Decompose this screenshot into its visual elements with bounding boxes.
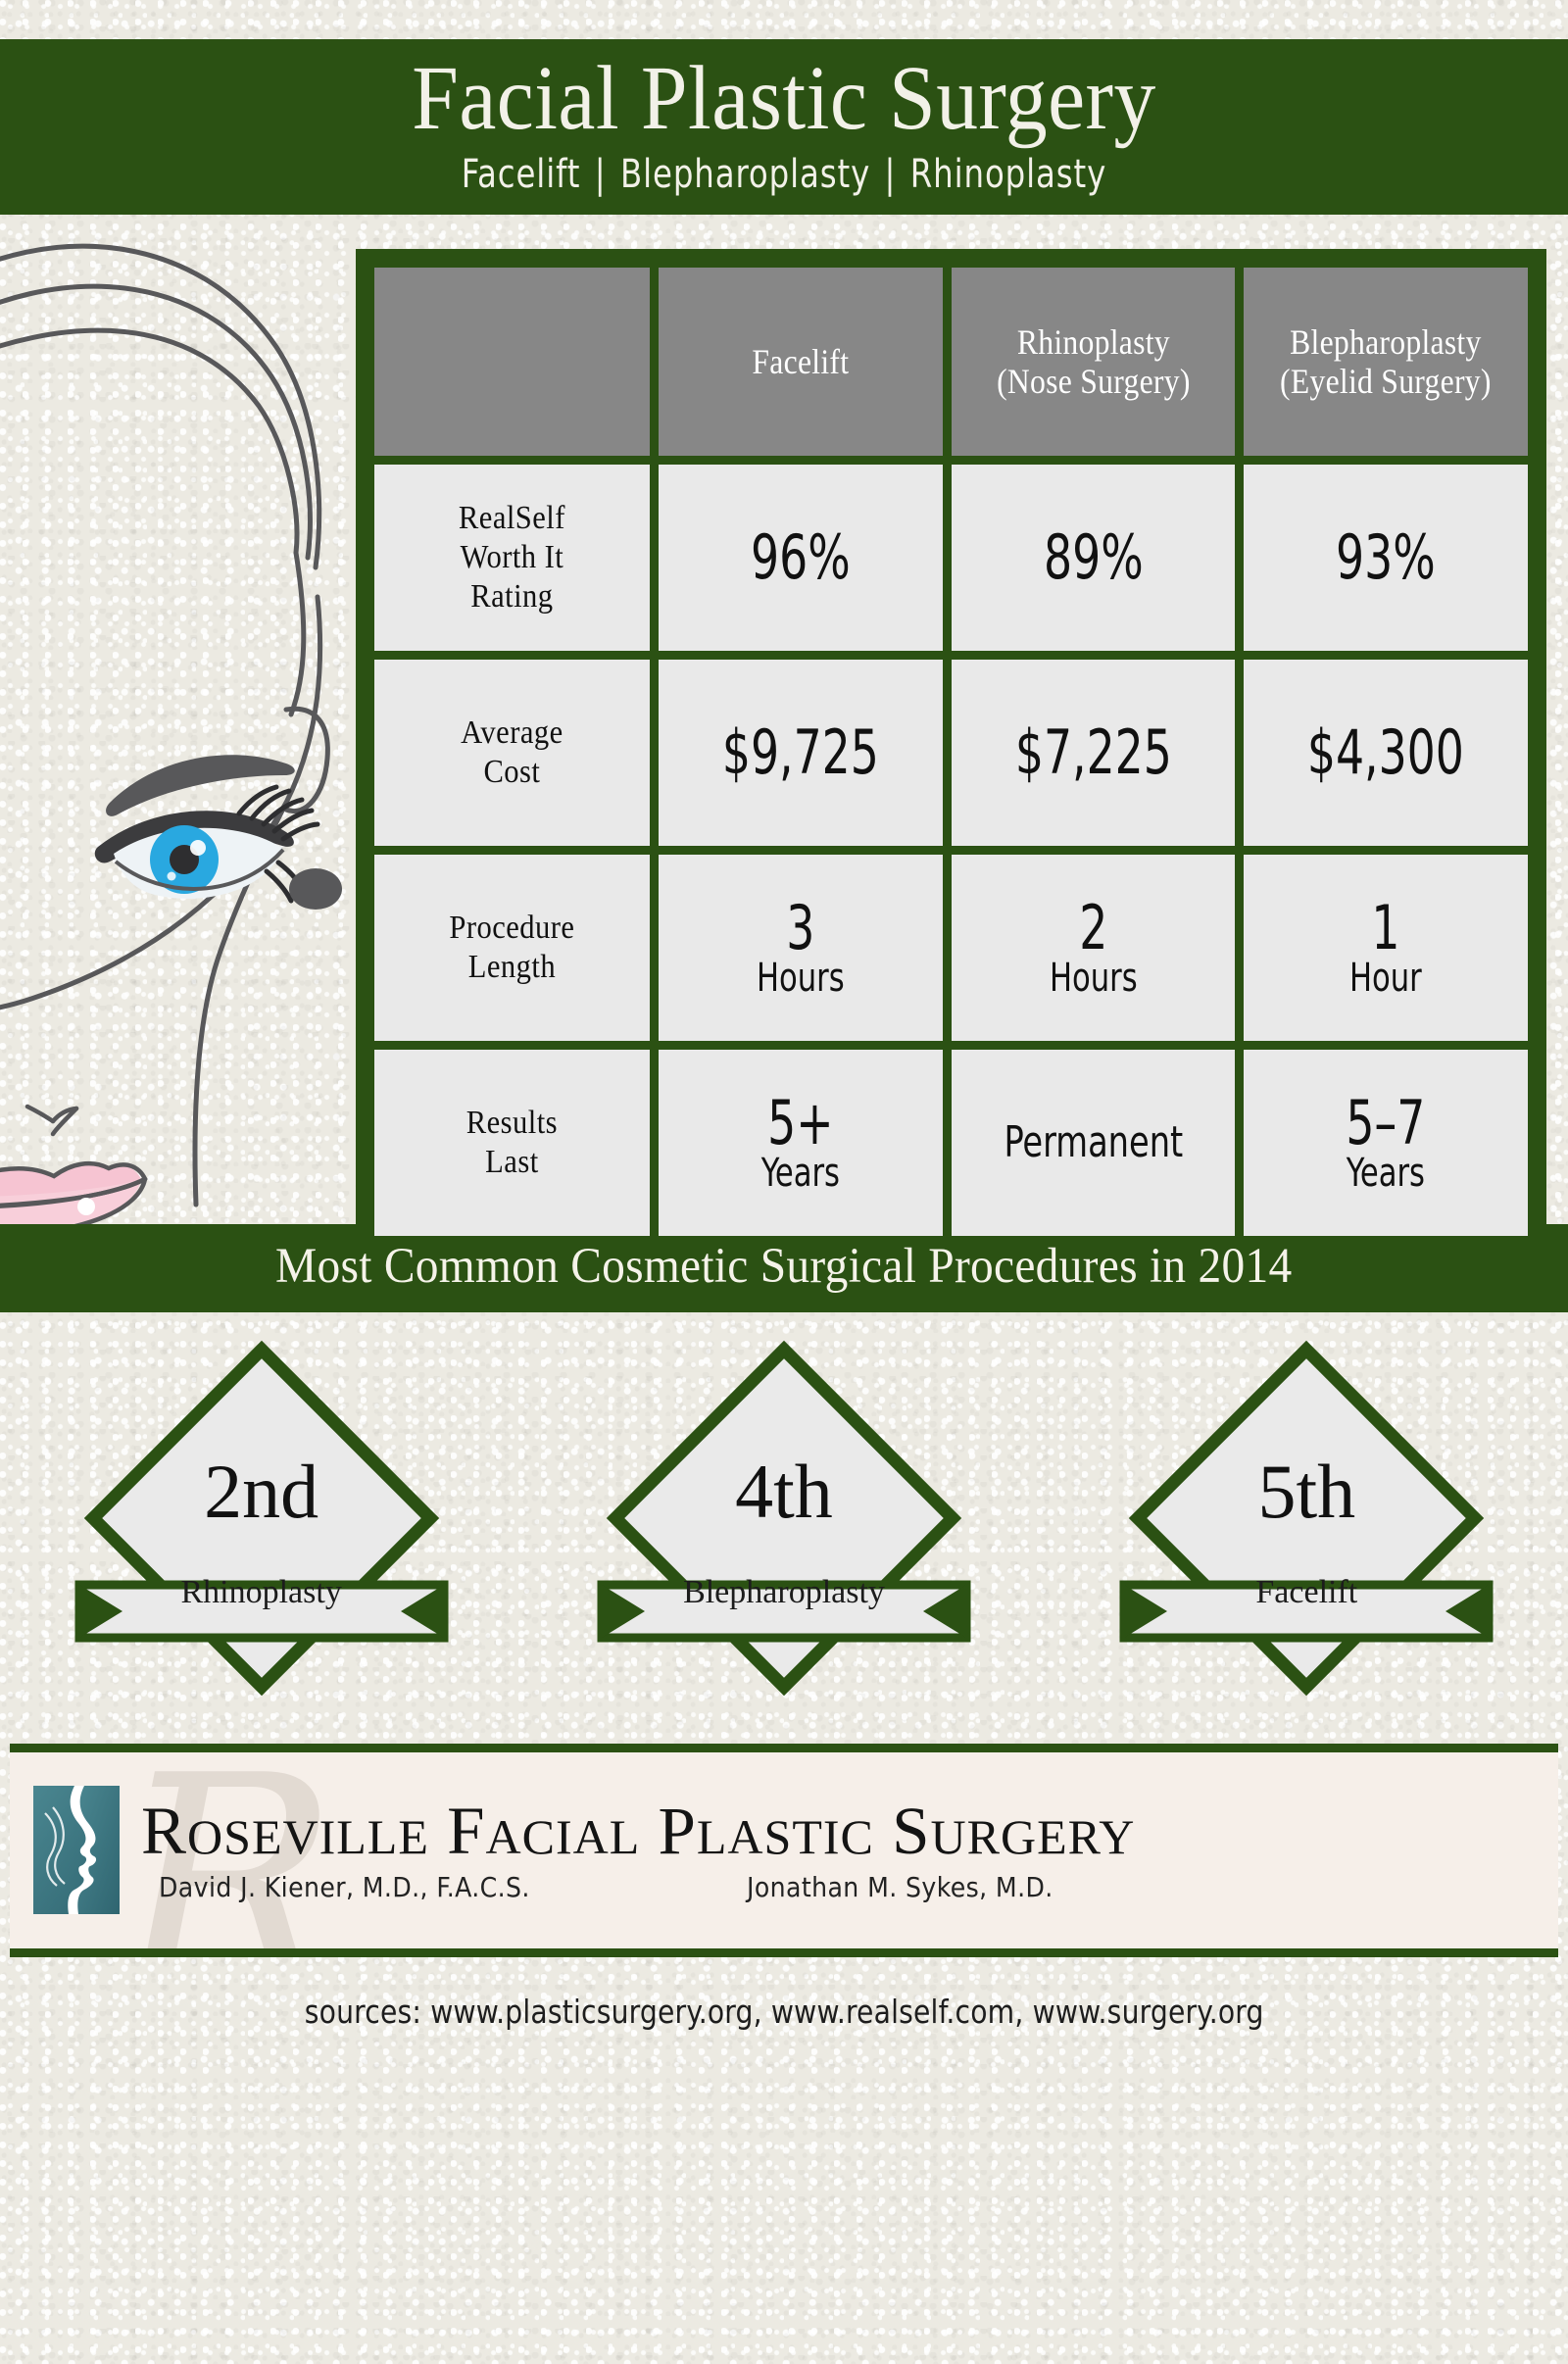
comparison-table: Facelift Rhinoplasty (Nose Surgery) Blep… — [366, 259, 1537, 1245]
table-header-rhinoplasty: Rhinoplasty (Nose Surgery) — [952, 268, 1236, 456]
ranking-badge-rhinoplasty: 2nd Rhinoplasty — [66, 1332, 458, 1724]
table-header-blepharoplasty: Blepharoplasty (Eyelid Surgery) — [1244, 268, 1528, 456]
brand-oseville: OSEVILLE — [187, 1809, 429, 1864]
ranking-number: 4th — [588, 1448, 980, 1536]
cell-results-rhinoplasty: Permanent — [952, 1050, 1236, 1236]
face-profile-logo-icon — [31, 1784, 122, 1916]
table-row: Results Last 5+ Years Permanent 5–7 Year… — [374, 1050, 1528, 1236]
cell-rating-blepharoplasty: 93% — [1244, 465, 1528, 651]
row-label-average-cost: Average Cost — [374, 660, 650, 846]
table-row: Average Cost $9,725 $7,225 $4,300 — [374, 660, 1528, 846]
cell-length-facelift: 3 Hours — [659, 855, 943, 1041]
brand-p: P — [659, 1794, 697, 1868]
cell-cost-rhinoplasty: $7,225 — [952, 660, 1236, 846]
header-rhinoplasty-line2: (Nose Surgery) — [971, 362, 1214, 401]
table-header-row: Facelift Rhinoplasty (Nose Surgery) Blep… — [374, 268, 1528, 456]
ranking-label: Blepharoplasty — [588, 1574, 980, 1611]
ranking-label: Rhinoplasty — [66, 1574, 458, 1611]
ranking-number: 5th — [1110, 1448, 1502, 1536]
cell-results-facelift: 5+ Years — [659, 1050, 943, 1236]
sources-text: sources: www.plasticsurgery.org, www.rea… — [305, 1993, 1264, 2031]
table-row: RealSelf Worth It Rating 96% 89% 93% — [374, 465, 1528, 651]
cell-rating-rhinoplasty: 89% — [952, 465, 1236, 651]
ranking-badge-facelift: 5th Facelift — [1110, 1332, 1502, 1724]
practice-name: ROSEVILLE FACIAL PLASTIC SURGERY — [141, 1798, 1558, 1865]
row-label-realself-rating: RealSelf Worth It Rating — [374, 465, 650, 651]
rankings-section: 2nd Rhinoplasty 4th Blepharoplasty 5th F… — [0, 1312, 1568, 1744]
woman-face-illustration — [0, 215, 345, 1224]
doctor-name-1: David J. Kiener, M.D., F.A.C.S. — [159, 1871, 747, 1903]
main-section: Facelift Rhinoplasty (Nose Surgery) Blep… — [0, 215, 1568, 1224]
header-facelift-line1: Facelift — [679, 342, 922, 381]
brand-f: F — [447, 1794, 485, 1868]
subtitle-item-blepharoplasty: Blepharoplasty — [620, 152, 870, 197]
subtitle-item-facelift: Facelift — [462, 152, 581, 197]
table-header-facelift: Facelift — [659, 268, 943, 456]
header-rhinoplasty-line1: Rhinoplasty — [971, 322, 1214, 362]
brand-s: S — [892, 1794, 930, 1868]
table-header-corner — [374, 268, 650, 456]
cell-length-blepharoplasty: 1 Hour — [1244, 855, 1528, 1041]
subtitle-separator-1: | — [580, 152, 620, 197]
doctor-names: David J. Kiener, M.D., F.A.C.S. Jonathan… — [141, 1871, 1558, 1903]
subtitle-item-rhinoplasty: Rhinoplasty — [910, 152, 1106, 197]
cell-cost-facelift: $9,725 — [659, 660, 943, 846]
section-banner-text: Most Common Cosmetic Surgical Procedures… — [275, 1238, 1292, 1295]
sources-footer: sources: www.plasticsurgery.org, www.rea… — [0, 1957, 1568, 2031]
ranking-label: Facelift — [1110, 1574, 1502, 1611]
table-row: Procedure Length 3 Hours 2 Hours 1 Hour — [374, 855, 1528, 1041]
header-blepharoplasty-line1: Blepharoplasty — [1264, 322, 1507, 362]
doctor-name-2: Jonathan M. Sykes, M.D. — [747, 1871, 1053, 1903]
brand-r: R — [141, 1794, 187, 1868]
page-header: Facial Plastic Surgery Facelift|Blepharo… — [0, 39, 1568, 215]
brand-urgery: URGERY — [931, 1809, 1136, 1864]
ranking-number: 2nd — [66, 1448, 458, 1536]
brand-lastic: LASTIC — [697, 1809, 874, 1864]
cell-cost-blepharoplasty: $4,300 — [1244, 660, 1528, 846]
comparison-table-container: Facelift Rhinoplasty (Nose Surgery) Blep… — [356, 249, 1546, 1255]
top-margin-strip — [0, 0, 1568, 39]
row-label-procedure-length: Procedure Length — [374, 855, 650, 1041]
practice-logo-band: R ROSEVILLE FACIAL PLASTIC SUR — [10, 1744, 1558, 1957]
cell-rating-facelift: 96% — [659, 465, 943, 651]
cell-results-blepharoplasty: 5–7 Years — [1244, 1050, 1528, 1236]
subtitle-separator-2: | — [870, 152, 910, 197]
practice-name-block: ROSEVILLE FACIAL PLASTIC SURGERY David J… — [141, 1798, 1558, 1903]
brand-acial: ACIAL — [486, 1809, 641, 1864]
cell-length-rhinoplasty: 2 Hours — [952, 855, 1236, 1041]
header-subtitle: Facelift|Blepharoplasty|Rhinoplasty — [78, 152, 1490, 197]
page-title: Facial Plastic Surgery — [63, 53, 1505, 146]
header-blepharoplasty-line2: (Eyelid Surgery) — [1264, 362, 1507, 401]
ranking-badge-blepharoplasty: 4th Blepharoplasty — [588, 1332, 980, 1724]
row-label-results-last: Results Last — [374, 1050, 650, 1236]
